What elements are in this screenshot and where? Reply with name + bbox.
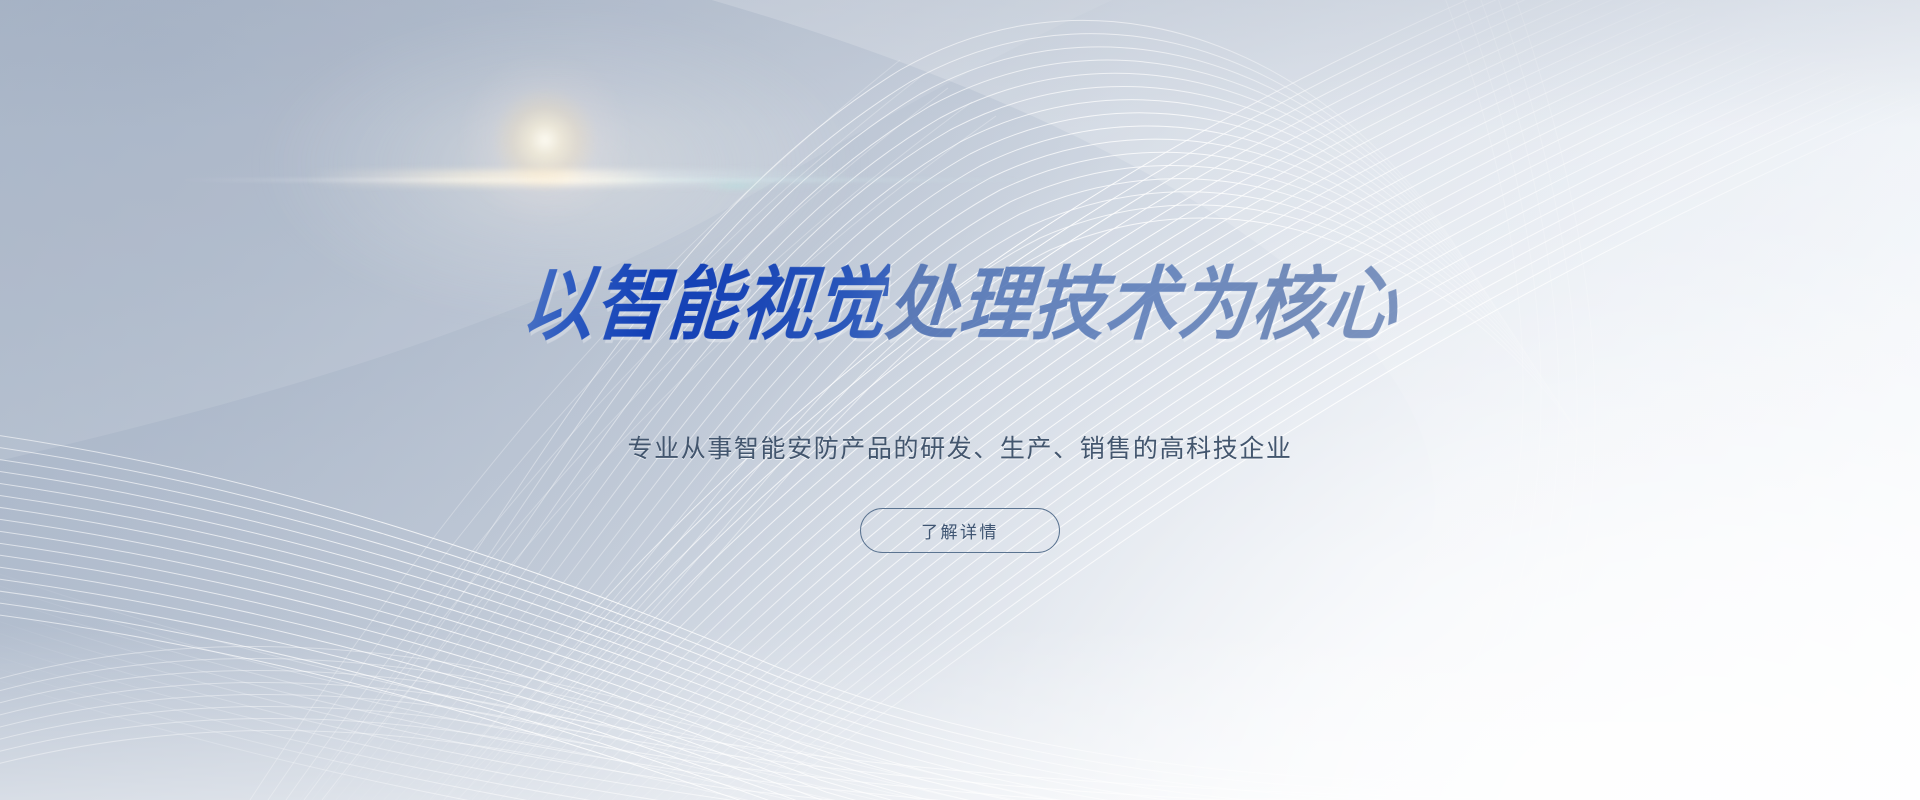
page-title-muted: 处理技术为核心 — [883, 264, 1401, 345]
page-title-accent: 以智能视觉 — [518, 264, 890, 345]
page-title: 以智能视觉处理技术为核心 — [522, 268, 1398, 340]
hero-content: 以智能视觉处理技术为核心 专业从事智能安防产品的研发、生产、销售的高科技企业 了… — [0, 0, 1920, 800]
page-subtitle: 专业从事智能安防产品的研发、生产、销售的高科技企业 — [627, 429, 1292, 465]
learn-more-button[interactable]: 了解详情 — [860, 508, 1060, 553]
hero-banner: 以智能视觉处理技术为核心 专业从事智能安防产品的研发、生产、销售的高科技企业 了… — [0, 0, 1920, 800]
